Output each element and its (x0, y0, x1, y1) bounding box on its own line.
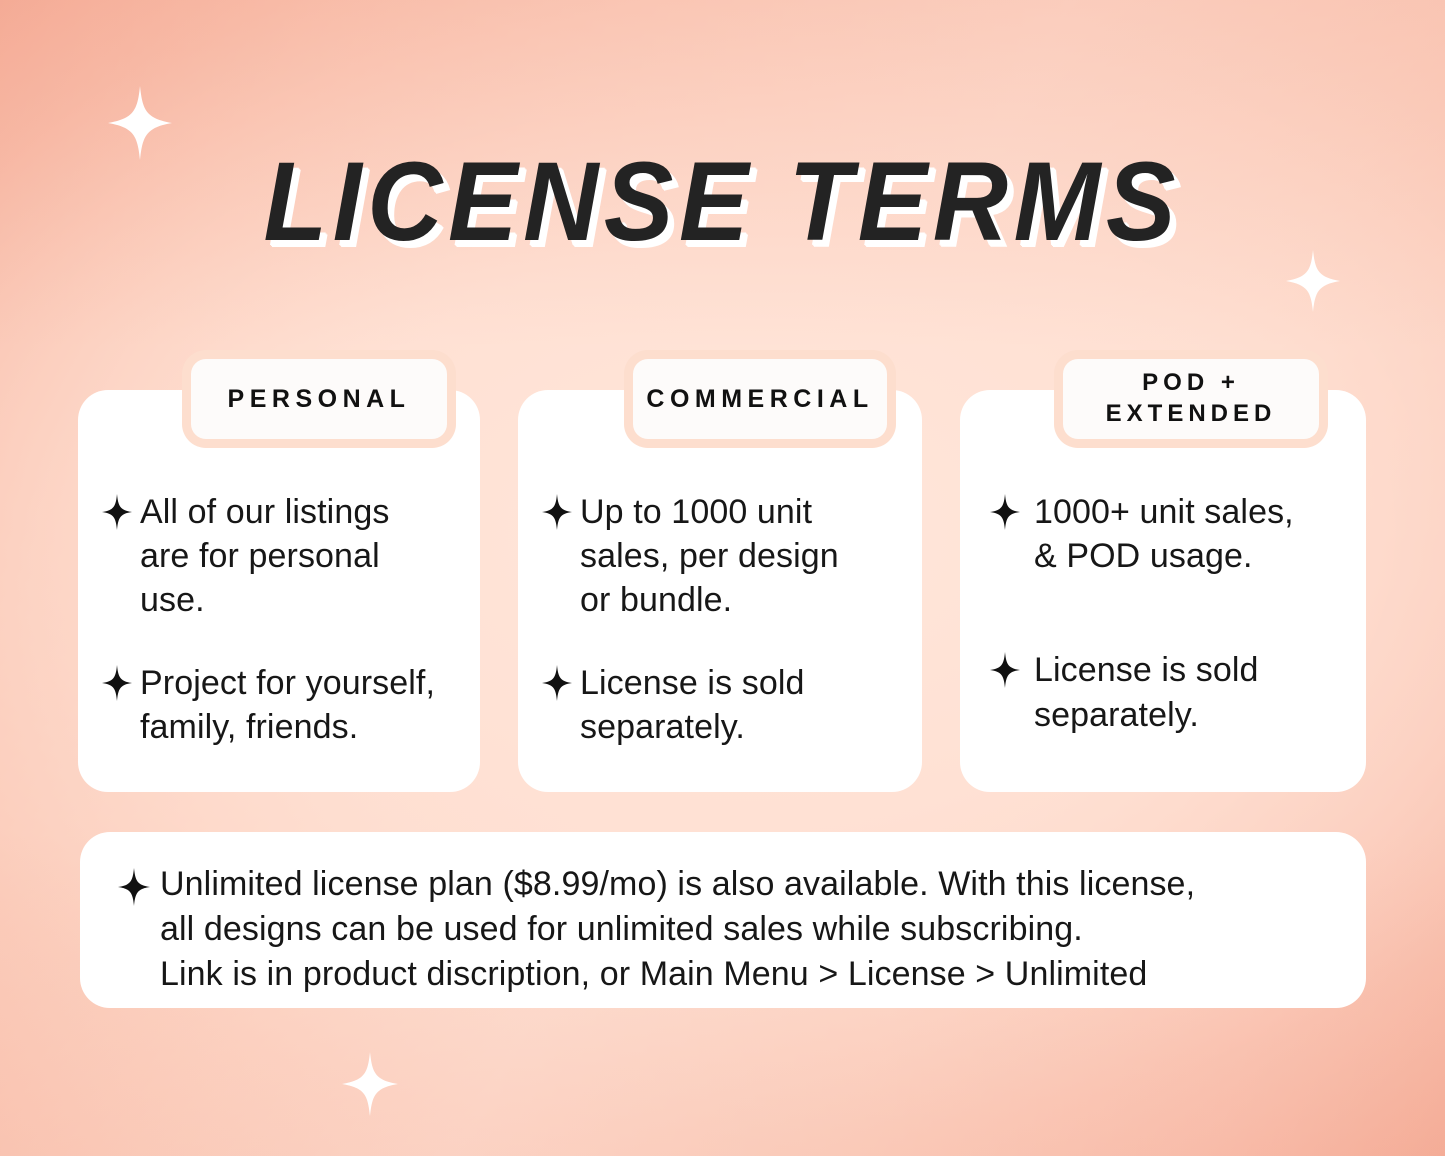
list-item: License is sold separately. (990, 648, 1344, 736)
license-card-pod-extended: 1000+ unit sales, & POD usage. License i… (960, 390, 1366, 792)
card-body-personal: All of our listings are for personal use… (78, 490, 480, 749)
list-item: Unlimited license plan ($8.99/mo) is als… (118, 862, 1340, 998)
four-point-star-icon (542, 494, 572, 530)
four-point-star-icon (102, 665, 132, 701)
list-item: All of our listings are for personal use… (102, 490, 458, 623)
list-item-text: 1000+ unit sales, & POD usage. (1034, 490, 1294, 578)
banner-content: Unlimited license plan ($8.99/mo) is als… (118, 862, 1340, 998)
list-item-text: All of our listings are for personal use… (140, 490, 389, 623)
tab-label-commercial: COMMERCIAL (646, 383, 873, 415)
tab-label-personal: PERSONAL (228, 383, 411, 415)
list-item-text: Project for yourself, family, friends. (140, 661, 435, 749)
four-point-star-icon (990, 494, 1020, 530)
four-point-star-icon (102, 494, 132, 530)
unlimited-plan-banner: Unlimited license plan ($8.99/mo) is als… (80, 832, 1366, 1008)
four-point-star-icon (542, 665, 572, 701)
license-card-commercial: Up to 1000 unit sales, per design or bun… (518, 390, 922, 792)
card-body-commercial: Up to 1000 unit sales, per design or bun… (518, 490, 922, 749)
page-title: LICENSE TERMS (264, 146, 1181, 258)
banner-text: Unlimited license plan ($8.99/mo) is als… (160, 862, 1195, 998)
four-point-star-icon (990, 652, 1020, 688)
four-point-star-icon (1286, 250, 1340, 312)
list-item: License is sold separately. (542, 661, 900, 749)
list-item-text: Up to 1000 unit sales, per design or bun… (580, 490, 839, 623)
license-tiers: All of our listings are for personal use… (78, 350, 1366, 792)
license-card-personal: All of our listings are for personal use… (78, 390, 480, 792)
page-title-container: LICENSE TERMS (0, 146, 1445, 258)
list-item-text: License is sold separately. (580, 661, 805, 749)
list-item: Up to 1000 unit sales, per design or bun… (542, 490, 900, 623)
four-point-star-icon (118, 868, 150, 906)
tab-commercial[interactable]: COMMERCIAL (624, 350, 896, 448)
tab-pod-extended[interactable]: POD + EXTENDED (1054, 350, 1328, 448)
tab-personal[interactable]: PERSONAL (182, 350, 456, 448)
tab-label-pod-extended: POD + EXTENDED (1106, 368, 1277, 429)
list-item: 1000+ unit sales, & POD usage. (990, 490, 1344, 578)
card-body-pod-extended: 1000+ unit sales, & POD usage. License i… (960, 490, 1366, 807)
list-item: Project for yourself, family, friends. (102, 661, 458, 749)
list-item-text: License is sold separately. (1034, 648, 1259, 736)
four-point-star-icon (342, 1052, 398, 1116)
